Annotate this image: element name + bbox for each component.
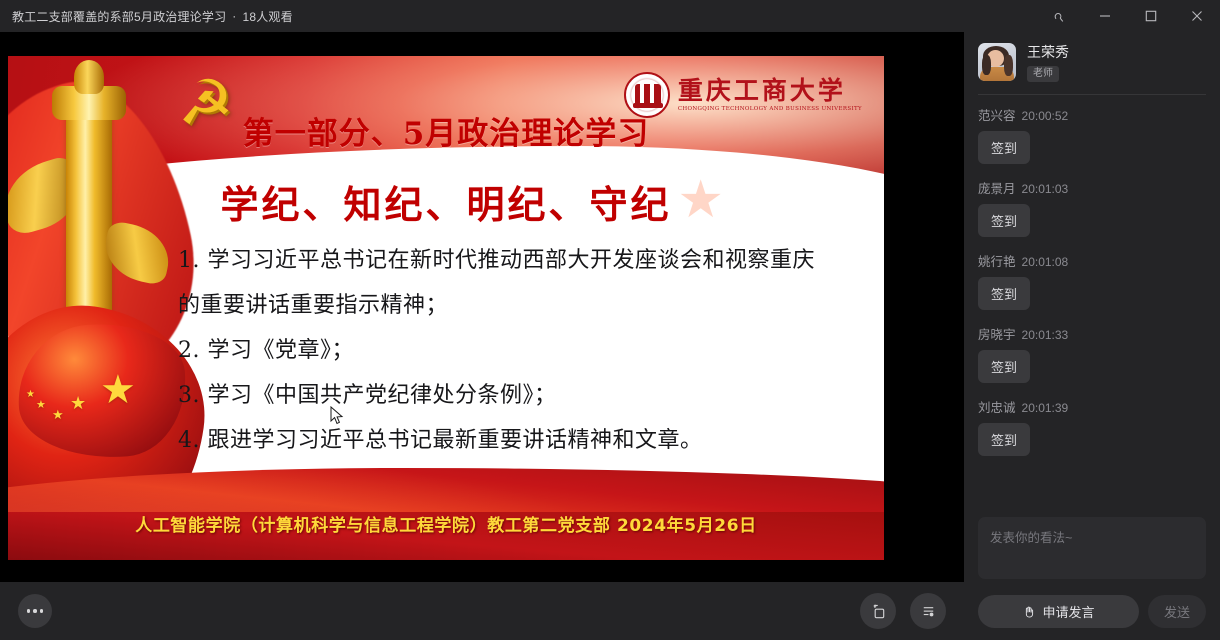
chat-timestamp: 20:01:39 xyxy=(1022,401,1069,415)
chat-message: 姚行艳 20:01:08 签到 xyxy=(978,251,1206,310)
presenter-role-badge: 老师 xyxy=(1027,66,1059,82)
slide-bullet-4: 4. 跟进学习习近平总书记最新重要讲话精神和文章。 xyxy=(178,418,824,463)
minimize-icon[interactable] xyxy=(1082,0,1128,32)
presenter-meta: 王荣秀 老师 xyxy=(1027,42,1069,82)
chat-message-header: 范兴容 20:00:52 xyxy=(978,105,1206,124)
viewer-count: 18人观看 xyxy=(242,8,292,25)
stage-toolbar-right xyxy=(860,593,946,629)
composer-actions: 申请发言 发送 xyxy=(978,595,1206,628)
message-input[interactable] xyxy=(978,517,1206,579)
live-class-window: 教工二支部覆盖的系部5月政治理论学习 · 18人观看 xyxy=(0,0,1220,640)
chat-timestamp: 20:01:33 xyxy=(1022,328,1069,342)
slide-subtitle: 学纪、知纪、明纪、守纪 xyxy=(8,174,884,229)
raise-hand-button[interactable]: 申请发言 xyxy=(978,595,1139,628)
video-stage: ★ ★ ★ ★ ★ ★ xyxy=(0,32,964,640)
chat-message: 房晓宇 20:01:33 签到 xyxy=(978,324,1206,383)
slide-title: 第一部分、5月政治理论学习 xyxy=(8,108,884,153)
chat-message-header: 房晓宇 20:01:33 xyxy=(978,324,1206,343)
stage-toolbar xyxy=(0,582,964,640)
more-options-button[interactable] xyxy=(18,594,52,628)
title-bar: 教工二支部覆盖的系部5月政治理论学习 · 18人观看 xyxy=(0,0,1220,32)
window-controls xyxy=(1036,0,1220,32)
message-composer: 申请发言 发送 xyxy=(978,517,1206,640)
chat-timestamp: 20:01:08 xyxy=(1022,255,1069,269)
pillar-top-ornament xyxy=(74,60,104,94)
hand-icon xyxy=(1022,605,1036,619)
chat-message-text: 签到 xyxy=(978,131,1030,164)
window-title: 教工二支部覆盖的系部5月政治理论学习 xyxy=(12,8,226,25)
chat-message-list[interactable]: 范兴容 20:00:52 签到 庞景月 20:01:03 签到 姚行艳 20 xyxy=(978,95,1206,517)
chat-message-header: 刘忠诚 20:01:39 xyxy=(978,397,1206,416)
chat-timestamp: 20:01:03 xyxy=(1022,182,1069,196)
slide-canvas[interactable]: ★ ★ ★ ★ ★ ★ xyxy=(0,32,964,582)
flag-star-3: ★ xyxy=(52,408,64,421)
chat-sender-name: 庞景月 xyxy=(978,178,1016,197)
chat-sidebar: 王荣秀 老师 范兴容 20:00:52 签到 庞景月 20:01:03 xyxy=(964,32,1220,640)
settings-sliders-icon xyxy=(920,603,937,620)
settings-list-button[interactable] xyxy=(910,593,946,629)
university-name-cn: 重庆工商大学 xyxy=(678,78,862,104)
chat-message-text: 签到 xyxy=(978,204,1030,237)
presenter-card[interactable]: 王荣秀 老师 xyxy=(978,32,1206,94)
ellipsis-icon xyxy=(27,609,44,613)
chat-message: 刘忠诚 20:01:39 签到 xyxy=(978,397,1206,456)
flag-star-2: ★ xyxy=(70,394,86,412)
flag-star-1: ★ xyxy=(100,370,136,410)
chat-message-text: 签到 xyxy=(978,423,1030,456)
chat-sender-name: 姚行艳 xyxy=(978,251,1016,270)
chat-message: 范兴容 20:00:52 签到 xyxy=(978,105,1206,164)
flag-star-5: ★ xyxy=(26,390,35,400)
slide-bullet-2: 2. 学习《党章》； xyxy=(178,328,824,373)
chat-timestamp: 20:00:52 xyxy=(1022,109,1069,123)
chat-sender-name: 范兴容 xyxy=(978,105,1016,124)
flag-star-4: ★ xyxy=(36,400,46,411)
maximize-icon[interactable] xyxy=(1128,0,1174,32)
pin-icon[interactable] xyxy=(1036,0,1082,32)
chat-sender-name: 刘忠诚 xyxy=(978,397,1016,416)
send-button[interactable]: 发送 xyxy=(1148,595,1206,628)
raise-hand-label: 申请发言 xyxy=(1042,602,1094,621)
avatar xyxy=(978,43,1016,81)
close-icon[interactable] xyxy=(1174,0,1220,32)
chat-message-text: 签到 xyxy=(978,277,1030,310)
presenter-name: 王荣秀 xyxy=(1027,42,1069,62)
chat-message-header: 姚行艳 20:01:08 xyxy=(978,251,1206,270)
presentation-slide: ★ ★ ★ ★ ★ ★ xyxy=(8,56,884,560)
share-screen-button[interactable] xyxy=(860,593,896,629)
share-window-icon xyxy=(870,603,887,620)
chat-message: 庞景月 20:01:03 签到 xyxy=(978,178,1206,237)
chat-message-text: 签到 xyxy=(978,350,1030,383)
slide-bullet-3: 3. 学习《中国共产党纪律处分条例》； xyxy=(178,373,824,418)
main-body: ★ ★ ★ ★ ★ ★ xyxy=(0,32,1220,640)
slide-bullet-1: 1. 学习习近平总书记在新时代推动西部大开发座谈会和视察重庆的重要讲话重要指示精… xyxy=(178,238,824,328)
avatar-hair-left xyxy=(982,55,991,75)
chat-message-header: 庞景月 20:01:03 xyxy=(978,178,1206,197)
slide-bullet-list: 1. 学习习近平总书记在新时代推动西部大开发座谈会和视察重庆的重要讲话重要指示精… xyxy=(178,238,824,463)
title-separator: · xyxy=(232,9,236,23)
university-name-block: 重庆工商大学 CHONGQING TECHNOLOGY AND BUSINESS… xyxy=(678,78,862,112)
avatar-hair-right xyxy=(1004,55,1013,76)
slide-footer-text: 人工智能学院（计算机科学与信息工程学院）教工第二党支部 2024年5月26日 xyxy=(8,511,884,536)
chat-sender-name: 房晓宇 xyxy=(978,324,1016,343)
